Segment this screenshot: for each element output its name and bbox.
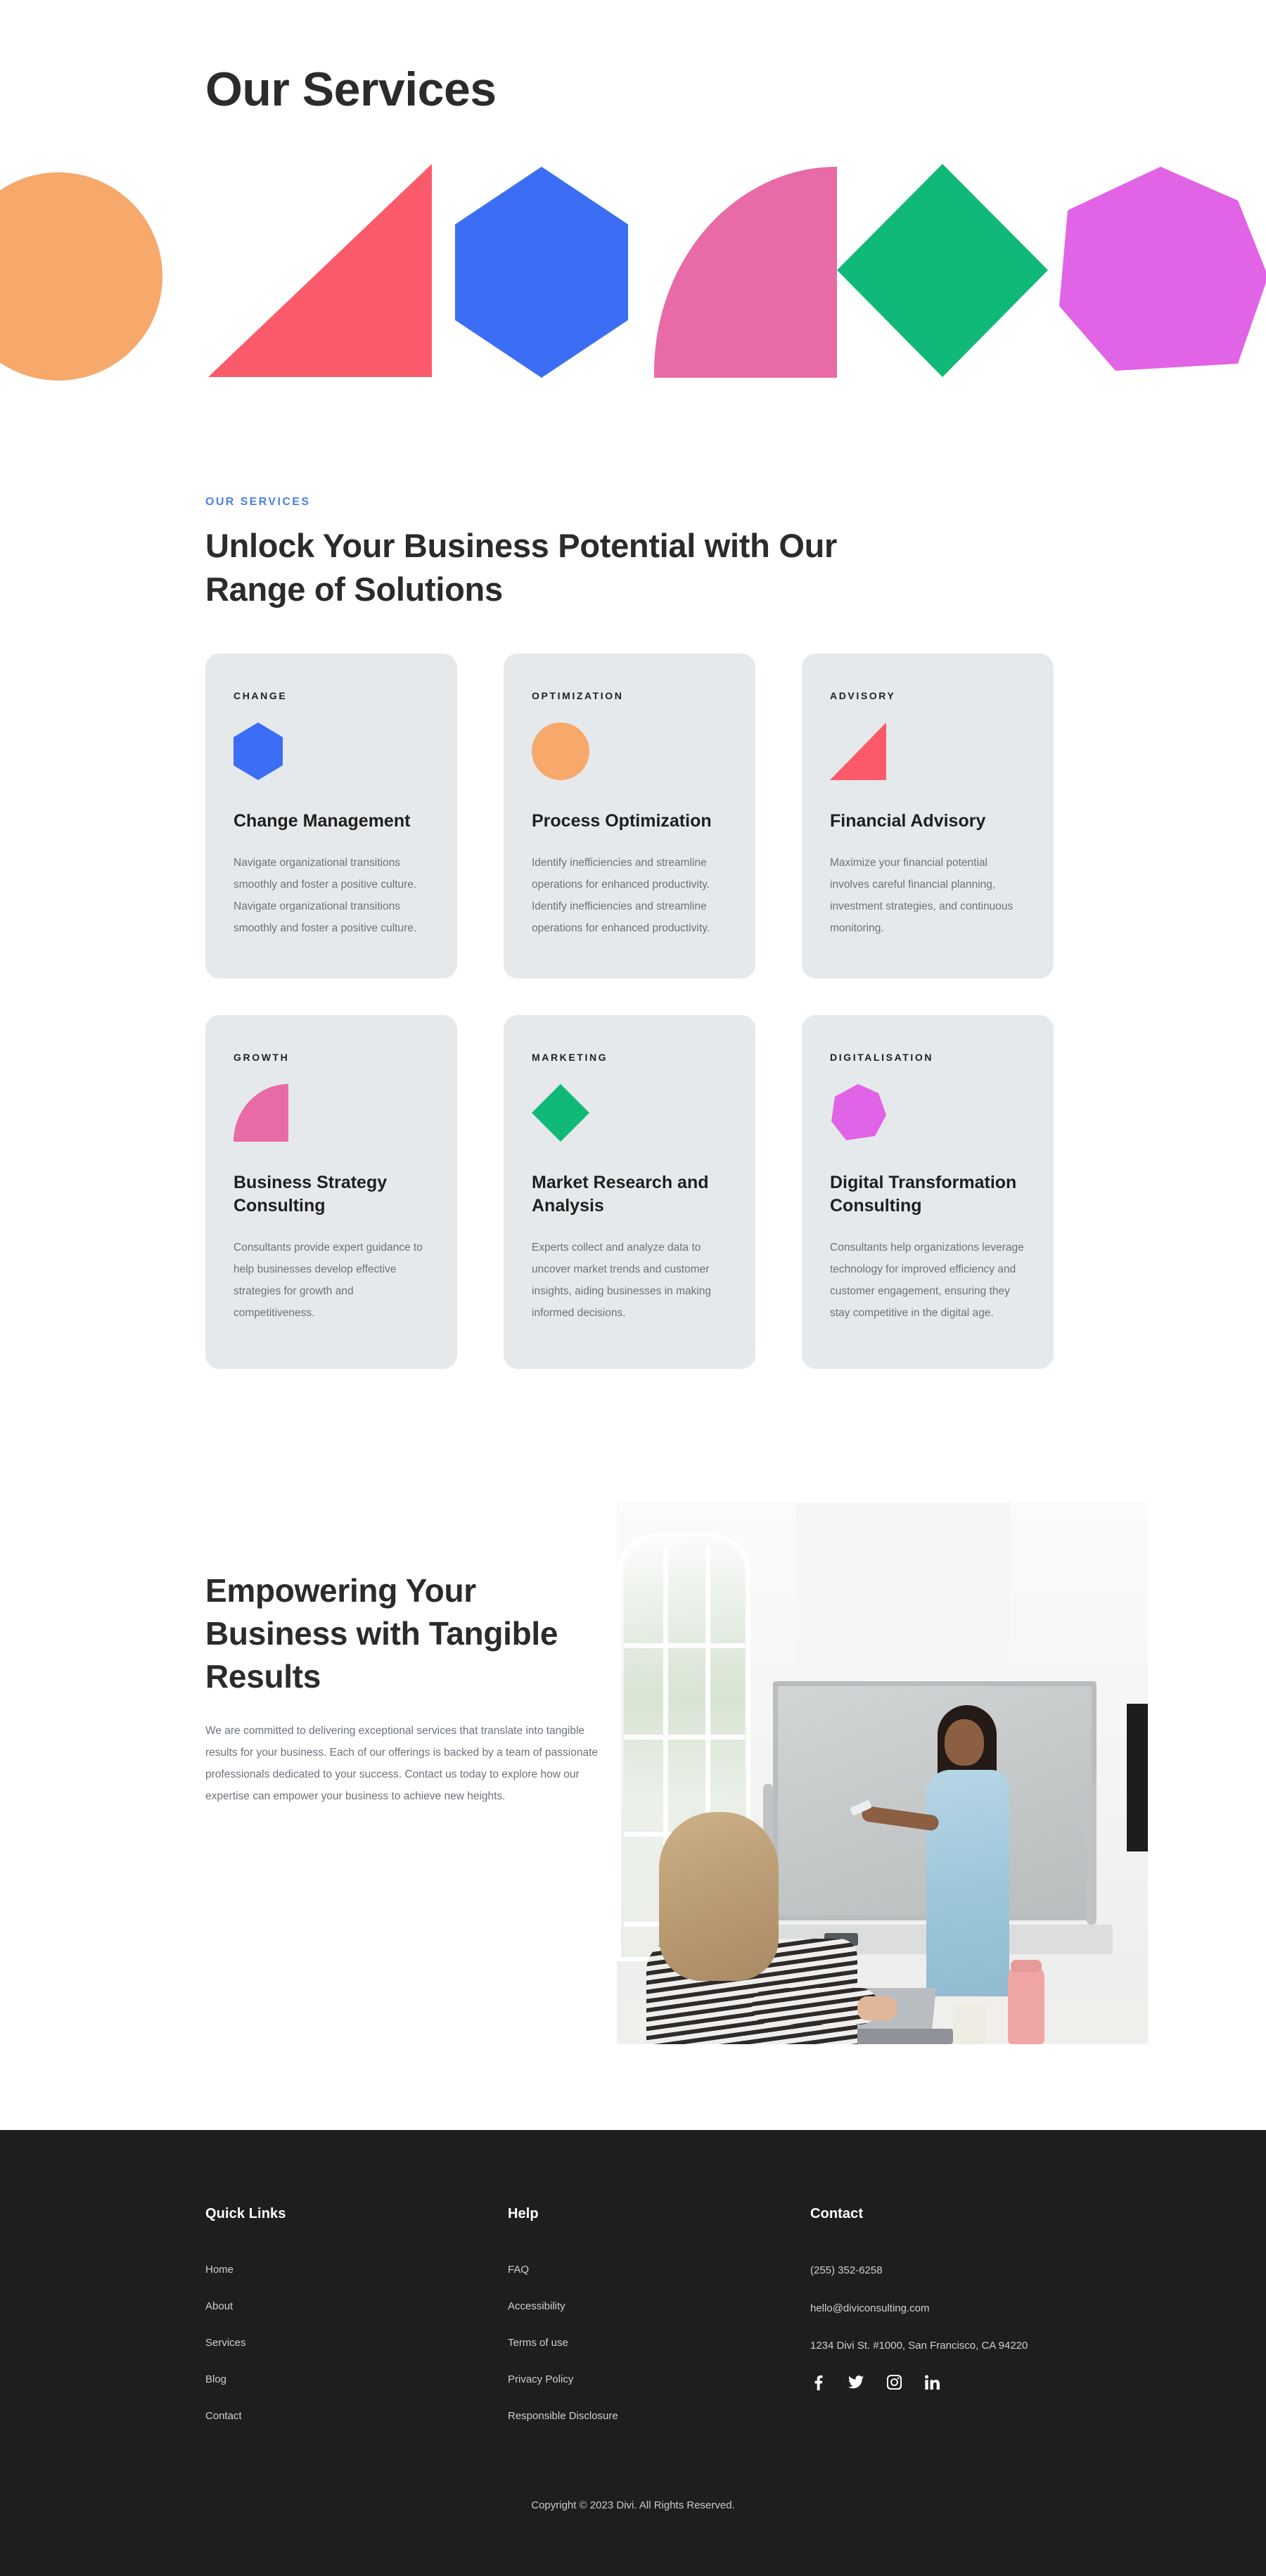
card-description: Maximize your financial potential involv… — [830, 852, 1025, 939]
photo-seated-hand — [857, 1996, 897, 2020]
card-kicker: DIGITALISATION — [830, 1052, 1025, 1063]
service-card-optimization[interactable]: OPTIMIZATION Process Optimization Identi… — [504, 653, 755, 978]
card-title: Process Optimization — [532, 810, 727, 834]
instagram-icon[interactable] — [886, 2375, 902, 2390]
photo-window-mullion — [624, 1643, 745, 1648]
linkedin-icon[interactable] — [924, 2375, 940, 2390]
footer-link-home[interactable]: Home — [205, 2262, 508, 2278]
footer-link-privacy-policy[interactable]: Privacy Policy — [508, 2371, 810, 2388]
empower-title: Empowering Your Business with Tangible R… — [205, 1569, 617, 1697]
card-title: Digital Transformation Consulting — [830, 1171, 1025, 1219]
card-description: Identify inefficiencies and streamline o… — [532, 852, 727, 939]
footer-link-services[interactable]: Services — [205, 2335, 508, 2352]
card-title: Market Research and Analysis — [532, 1171, 727, 1219]
footer-columns: Quick Links Home About Services Blog Con… — [0, 2206, 1266, 2444]
diamond-shape-green — [837, 164, 1048, 377]
hexagon-shape-blue — [450, 167, 633, 378]
card-kicker: ADVISORY — [830, 690, 1025, 701]
heptagon-shape-magenta — [1054, 167, 1266, 376]
empower-text-column: Empowering Your Business with Tangible R… — [205, 1503, 617, 1807]
photo-seated-woman — [646, 1812, 857, 2044]
decorative-shape-band — [0, 158, 1266, 376]
card-title: Change Management — [234, 810, 429, 834]
footer-column-quick-links: Quick Links Home About Services Blog Con… — [205, 2206, 508, 2444]
photo-cup — [953, 2003, 987, 2044]
card-description: Navigate organizational transitions smoo… — [234, 852, 429, 939]
service-card-grid: CHANGE Change Management Navigate organi… — [205, 653, 1061, 1369]
card-kicker: OPTIMIZATION — [532, 690, 727, 701]
site-footer: Quick Links Home About Services Blog Con… — [0, 2130, 1266, 2576]
circle-shape-orange — [0, 171, 188, 382]
card-kicker: CHANGE — [234, 690, 429, 701]
card-kicker: GROWTH — [234, 1052, 429, 1063]
service-card-change[interactable]: CHANGE Change Management Navigate organi… — [205, 653, 457, 978]
social-links — [810, 2375, 1148, 2390]
footer-link-responsible-disclosure[interactable]: Responsible Disclosure — [508, 2408, 810, 2425]
section-title: Unlock Your Business Potential with Our … — [205, 524, 874, 611]
footer-column-help: Help FAQ Accessibility Terms of use Priv… — [508, 2206, 810, 2444]
heptagon-icon — [830, 1084, 1025, 1142]
photo-water-bottle — [1008, 1965, 1044, 2044]
card-title: Business Strategy Consulting — [234, 1171, 429, 1219]
hexagon-icon — [234, 722, 429, 780]
footer-link-blog[interactable]: Blog — [205, 2371, 508, 2388]
triangle-icon — [830, 722, 1025, 780]
service-card-marketing[interactable]: MARKETING Market Research and Analysis E… — [504, 1015, 755, 1370]
empower-section: Empowering Your Business with Tangible R… — [0, 1503, 1266, 2044]
photo-whiteboard-leg — [1087, 1784, 1096, 1925]
page-title: Our Services — [205, 63, 1266, 116]
footer-heading-help: Help — [508, 2206, 810, 2222]
triangle-shape-red — [208, 164, 433, 377]
service-card-advisory[interactable]: ADVISORY Financial Advisory Maximize you… — [802, 653, 1054, 978]
card-description: Consultants help organizations leverage … — [830, 1237, 1025, 1324]
photo-seated-hair — [659, 1812, 779, 1981]
facebook-icon[interactable] — [810, 2375, 826, 2390]
copyright-text: Copyright © 2023 Divi. All Rights Reserv… — [0, 2499, 1266, 2511]
contact-address: 1234 Divi St. #1000, San Francisco, CA 9… — [810, 2337, 1042, 2355]
office-meeting-photo — [617, 1503, 1148, 2044]
footer-heading-contact: Contact — [810, 2206, 1148, 2222]
contact-email[interactable]: hello@diviconsulting.com — [810, 2300, 1042, 2318]
photo-window-mullion — [624, 1735, 745, 1740]
footer-column-contact: Contact (255) 352-6258 hello@diviconsult… — [810, 2206, 1148, 2444]
hero-section: Our Services — [0, 0, 1266, 376]
empower-body: We are committed to delivering exception… — [205, 1720, 599, 1807]
footer-link-faq[interactable]: FAQ — [508, 2262, 810, 2278]
services-page: Our Services — [0, 0, 1266, 2576]
footer-link-accessibility[interactable]: Accessibility — [508, 2298, 810, 2315]
photo-presenter-head — [945, 1719, 984, 1766]
photo-wall-monitor — [1127, 1704, 1148, 1851]
services-section: OUR SERVICES Unlock Your Business Potent… — [0, 376, 1266, 1369]
footer-link-contact[interactable]: Contact — [205, 2408, 508, 2425]
footer-heading-quick-links: Quick Links — [205, 2206, 508, 2222]
footer-link-about[interactable]: About — [205, 2298, 508, 2315]
quarter-circle-icon — [234, 1084, 429, 1142]
contact-phone[interactable]: (255) 352-6258 — [810, 2262, 1042, 2280]
section-eyebrow: OUR SERVICES — [205, 496, 1266, 509]
twitter-icon[interactable] — [848, 2375, 864, 2390]
card-title: Financial Advisory — [830, 810, 1025, 834]
service-card-digitalisation[interactable]: DIGITALISATION Digital Transformation Co… — [802, 1015, 1054, 1370]
service-card-growth[interactable]: GROWTH Business Strategy Consulting Cons… — [205, 1015, 457, 1370]
card-description: Consultants provide expert guidance to h… — [234, 1237, 429, 1324]
photo-presenter — [926, 1691, 1009, 2044]
diamond-icon — [532, 1084, 727, 1142]
circle-icon — [532, 722, 727, 780]
quarter-circle-shape-pink — [654, 167, 837, 378]
card-kicker: MARKETING — [532, 1052, 727, 1063]
photo-bottle-cap — [1011, 1960, 1042, 1972]
footer-link-terms-of-use[interactable]: Terms of use — [508, 2335, 810, 2352]
card-description: Experts collect and analyze data to unco… — [532, 1237, 727, 1324]
